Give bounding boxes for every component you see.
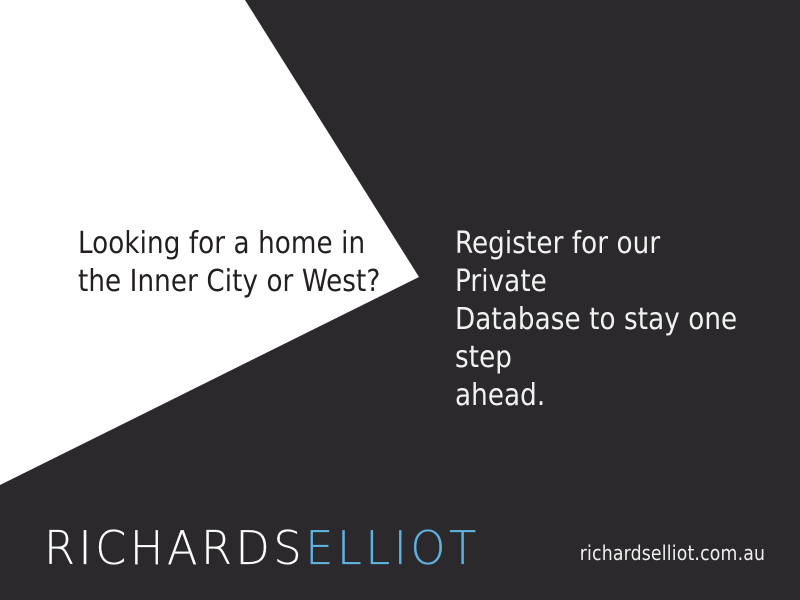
headline-call-to-action: Register for our Private Database to sta… (455, 225, 756, 415)
headline-question: Looking for a home in the Inner City or … (78, 225, 398, 301)
website-url[interactable]: richardselliot.com.au (580, 541, 765, 565)
brand-logo-primary-text: RICHARDS (44, 524, 305, 573)
brand-logo-secondary-text: ELLIOT (305, 524, 480, 573)
brand-logo: RICHARDSELLIOT (44, 524, 480, 573)
advertisement-slide: Looking for a home in the Inner City or … (0, 0, 800, 600)
